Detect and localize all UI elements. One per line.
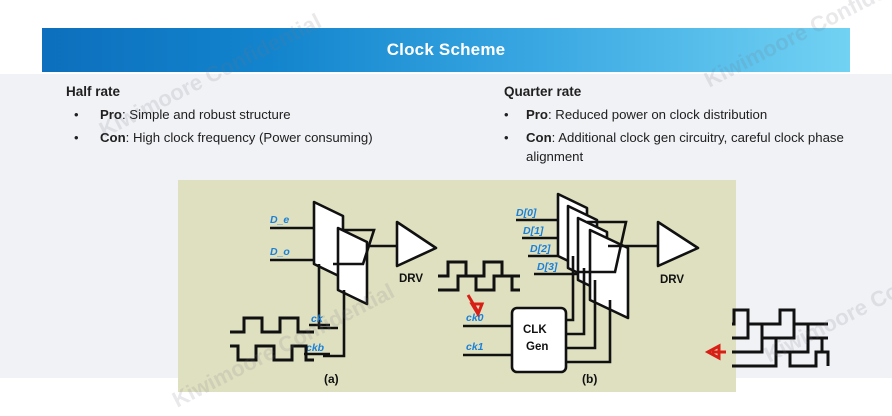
heading-half-rate: Half rate — [66, 84, 496, 99]
figure-caption-a: (a) — [324, 372, 339, 386]
signal-label-d-odd: D_o — [270, 246, 290, 258]
clock-gen-label-line2: Gen — [526, 341, 548, 353]
bullet-text: Con: Additional clock gen circuitry, car… — [526, 128, 884, 166]
half-rate-schematic: DRV ck ckb D_e D_o — [230, 202, 436, 360]
bullet-label: Con — [100, 130, 126, 145]
bullet-text: Pro: Reduced power on clock distribution — [526, 105, 767, 124]
page-title: Clock Scheme — [387, 40, 506, 60]
list-item: • Con: Additional clock gen circuitry, c… — [504, 128, 884, 166]
signal-label-d-even: D_e — [270, 214, 289, 226]
column-quarter-rate: Quarter rate • Pro: Reduced power on clo… — [504, 84, 884, 170]
signal-label-ck0: ck0 — [466, 312, 484, 324]
driver-label-a: DRV — [399, 273, 423, 285]
bullet-label: Pro — [526, 107, 548, 122]
driver-triangle-a — [397, 222, 436, 266]
signal-label-ckb: ckb — [306, 342, 325, 354]
bullet-marker-icon: • — [66, 105, 100, 124]
waveform-ck1-in — [438, 276, 520, 290]
list-item: • Pro: Simple and robust structure — [66, 105, 496, 124]
waveform-ck — [230, 318, 314, 332]
signal-label-ck: ck — [311, 313, 324, 325]
list-item: • Pro: Reduced power on clock distributi… — [504, 105, 884, 124]
clock-gen-box — [512, 308, 566, 372]
signal-label-d3: D[3] — [537, 261, 558, 273]
bullet-marker-icon: • — [504, 105, 526, 124]
driver-label-b: DRV — [660, 274, 684, 286]
clock-scheme-diagram: DRV ck ckb D_e D_o — [178, 180, 736, 392]
wire-ckb — [323, 290, 344, 356]
bullet-body: : High clock frequency (Power consuming) — [126, 130, 373, 145]
signal-label-ck1: ck1 — [466, 341, 484, 353]
bullet-body: : Additional clock gen circuitry, carefu… — [526, 130, 844, 164]
bullet-marker-icon: • — [504, 128, 526, 147]
figure-caption-b: (b) — [582, 372, 597, 386]
slide-title-bar: Clock Scheme — [42, 28, 850, 72]
waveform-ckb — [230, 346, 314, 360]
waveform-ck0-in — [438, 262, 520, 276]
figure-panel: DRV ck ckb D_e D_o — [178, 180, 736, 392]
signal-label-d1: D[1] — [523, 225, 544, 237]
signal-label-d0: D[0] — [516, 207, 537, 219]
bullet-body: : Simple and robust structure — [122, 107, 291, 122]
heading-quarter-rate: Quarter rate — [504, 84, 884, 99]
bullet-label: Pro — [100, 107, 122, 122]
signal-label-d2: D[2] — [530, 243, 551, 255]
bullet-marker-icon: • — [66, 128, 100, 147]
slide-root: Clock Scheme Half rate • Pro: Simple and… — [0, 0, 892, 416]
bullet-body: : Reduced power on clock distribution — [548, 107, 767, 122]
bullet-text: Con: High clock frequency (Power consumi… — [100, 128, 373, 147]
clock-gen-label-line1: CLK — [523, 324, 547, 336]
bullet-label: Con — [526, 130, 552, 145]
driver-triangle-b — [658, 222, 698, 266]
bullet-text: Pro: Simple and robust structure — [100, 105, 291, 124]
column-half-rate: Half rate • Pro: Simple and robust struc… — [66, 84, 496, 151]
list-item: • Con: High clock frequency (Power consu… — [66, 128, 496, 147]
mux-latch-front — [338, 228, 367, 304]
